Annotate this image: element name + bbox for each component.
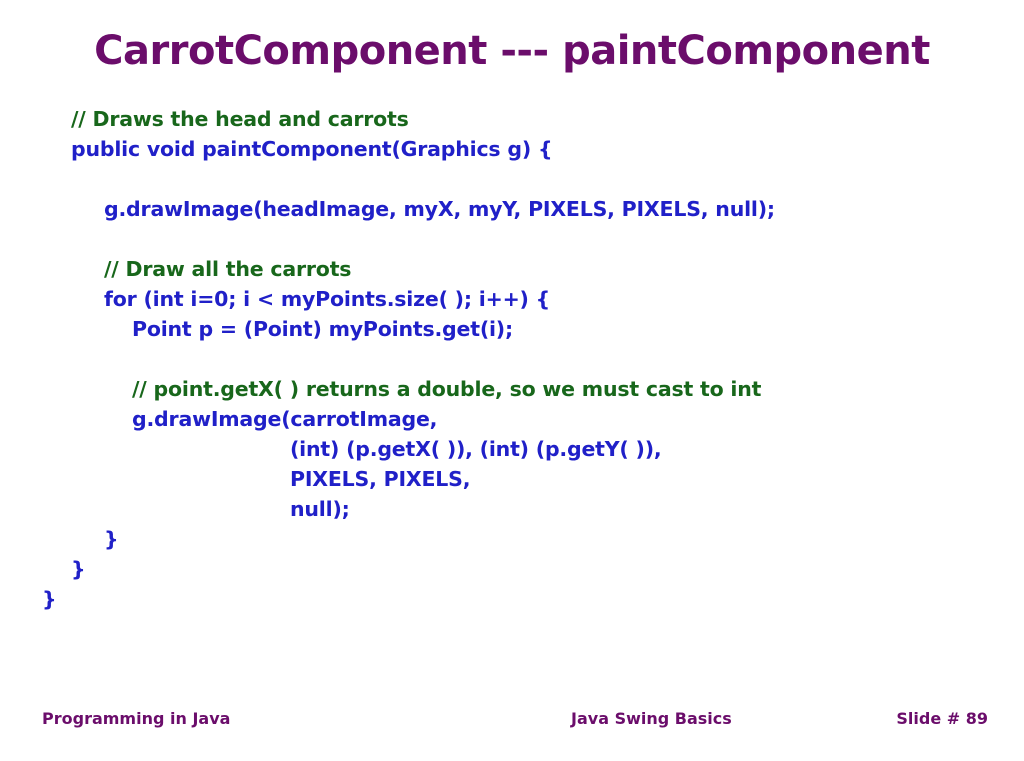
code-line: for (int i=0; i < myPoints.size( ); i++)… xyxy=(42,284,982,314)
code-line: g.drawImage(headImage, myX, myY, PIXELS,… xyxy=(42,194,982,224)
code-block: // Draws the head and carrotspublic void… xyxy=(42,104,982,614)
code-line: // Draws the head and carrots xyxy=(42,104,982,134)
code-line: // point.getX( ) returns a double, so we… xyxy=(42,374,982,404)
code-line: PIXELS, PIXELS, xyxy=(42,464,982,494)
slide-footer: Programming in Java Java Swing Basics Sl… xyxy=(42,706,988,730)
slide: CarrotComponent --- paintComponent // Dr… xyxy=(0,0,1024,761)
code-line: Point p = (Point) myPoints.get(i); xyxy=(42,314,982,344)
code-line: (int) (p.getX( )), (int) (p.getY( )), xyxy=(42,434,982,464)
footer-topic-label: Java Swing Basics xyxy=(571,709,732,728)
code-line: } xyxy=(42,524,982,554)
code-line: public void paintComponent(Graphics g) { xyxy=(42,134,982,164)
code-blank-line xyxy=(42,224,982,254)
code-line: null); xyxy=(42,494,982,524)
code-line: } xyxy=(42,584,982,614)
code-line: } xyxy=(42,554,982,584)
code-line: // Draw all the carrots xyxy=(42,254,982,284)
page-title: CarrotComponent --- paintComponent xyxy=(0,28,1024,74)
code-blank-line xyxy=(42,164,982,194)
footer-slide-number: Slide # 89 xyxy=(896,709,988,728)
code-line: g.drawImage(carrotImage, xyxy=(42,404,982,434)
code-blank-line xyxy=(42,344,982,374)
footer-course-label: Programming in Java xyxy=(42,709,230,728)
